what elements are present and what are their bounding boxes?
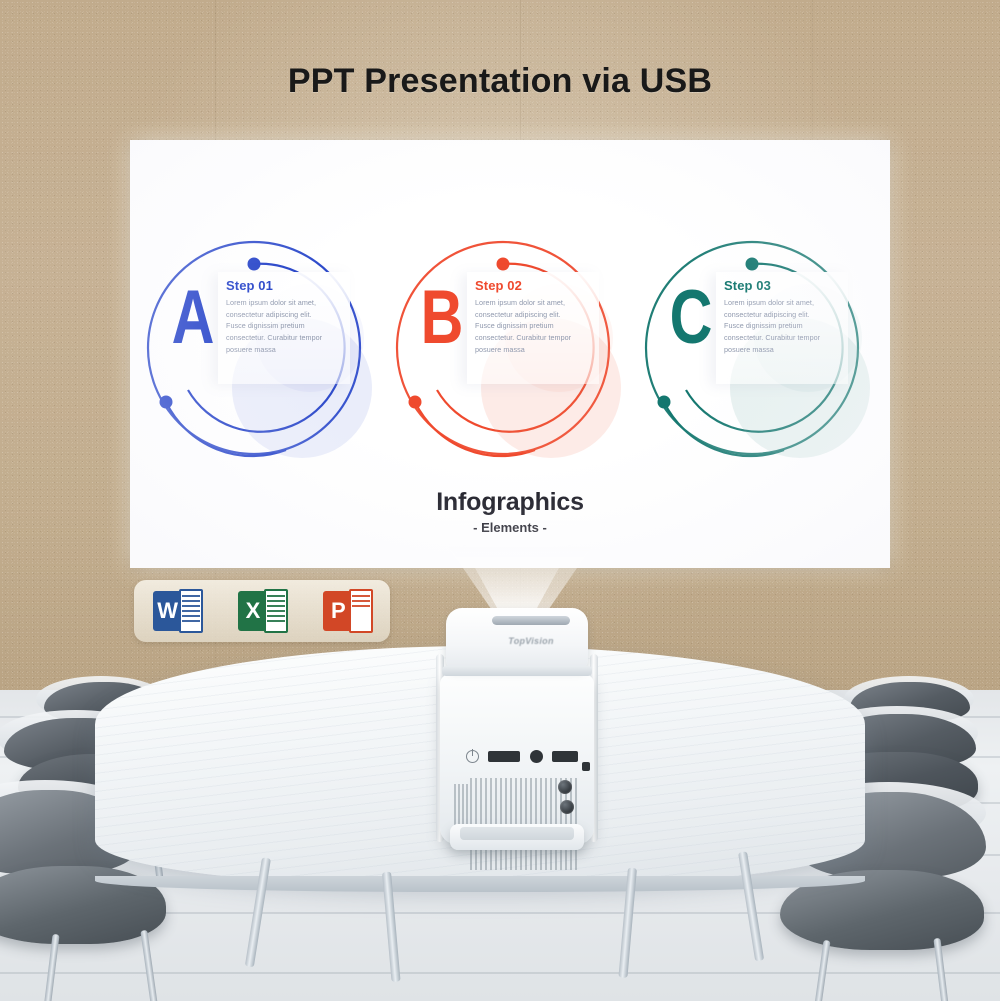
product-scene: PPT Presentation via USB A Step 01 Lorem… [0,0,1000,1001]
projector-lens [492,616,570,625]
ir-receiver [582,762,590,771]
word-icon-lines [182,595,200,627]
projection-screen: A Step 01 Lorem ipsum dolor sit amet, co… [130,140,890,568]
office-format-badges: W X P [134,580,390,642]
step-body-03: Lorem ipsum dolor sit amet, consectetur … [724,297,828,355]
projector-body [440,674,594,844]
powerpoint-icon-lines [352,595,370,627]
power-button[interactable] [466,750,479,763]
projector-stand-pad [460,827,574,840]
infographic-row: A Step 01 Lorem ipsum dolor sit amet, co… [130,198,890,498]
word-icon: W [151,589,203,633]
projector-top: TopVision [446,608,588,670]
projector-logo: TopVision [476,636,586,646]
excel-icon: X [236,589,288,633]
projector-band [442,666,592,676]
excel-icon-lines [267,595,285,627]
step-title-01: Step 01 [226,278,273,293]
item-letter-c: C [667,280,715,356]
powerpoint-icon: P [321,589,373,633]
focus-knob[interactable] [558,780,572,794]
projector-device: TopVision [432,608,602,850]
infographic-item-b: B Step 02 Lorem ipsum dolor sit amet, co… [385,198,635,498]
item-letter-a: A [169,280,217,356]
step-title-03: Step 03 [724,278,771,293]
caption-main: Infographics [130,488,890,517]
item-letter-b: B [418,280,466,356]
page-title: PPT Presentation via USB [0,62,1000,101]
step-body-02: Lorem ipsum dolor sit amet, consectetur … [475,297,579,355]
projector-port-panel [458,746,592,770]
step-title-02: Step 02 [475,278,522,293]
infographic-item-c: C Step 03 Lorem ipsum dolor sit amet, co… [634,198,884,498]
step-body-01: Lorem ipsum dolor sit amet, consectetur … [226,297,330,355]
keystone-knob[interactable] [560,800,574,814]
av-port[interactable] [530,750,543,763]
hdmi-port[interactable] [488,751,520,762]
usb-port[interactable] [552,751,578,762]
infographic-item-a: A Step 01 Lorem ipsum dolor sit amet, co… [136,198,386,498]
